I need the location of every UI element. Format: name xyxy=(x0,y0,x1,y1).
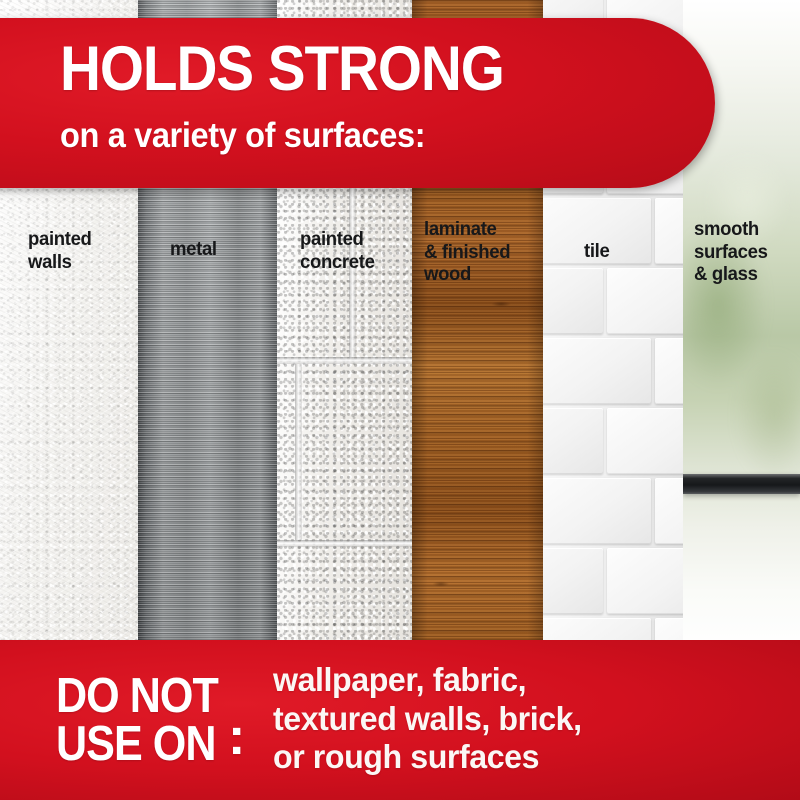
tile-piece xyxy=(607,268,683,334)
tile-piece xyxy=(543,268,603,334)
page-title: HOLDS STRONG xyxy=(60,38,504,101)
surface-label-glass: smooth surfaces & glass xyxy=(694,218,768,286)
tile-piece xyxy=(543,338,651,404)
tile-piece xyxy=(543,548,603,614)
do-not-use-heading: DO NOT USE ON xyxy=(56,672,218,769)
do-not-use-surface-list: wallpaper, fabric, textured walls, brick… xyxy=(273,662,582,779)
tile-piece xyxy=(607,548,683,614)
do-not-use-banner: DO NOT USE ON : wallpaper, fabric, textu… xyxy=(0,640,800,800)
mortar-joint-horizontal xyxy=(277,540,412,547)
tile-piece xyxy=(543,408,603,474)
page-subtitle: on a variety of surfaces: xyxy=(60,118,519,153)
tile-piece xyxy=(655,478,683,544)
tile-piece xyxy=(543,478,651,544)
mortar-joint-horizontal xyxy=(277,357,412,364)
surface-label-metal: metal xyxy=(170,238,217,261)
holds-strong-banner-text: HOLDS STRONG on a variety of surfaces: xyxy=(60,38,553,153)
surface-label-tile: tile xyxy=(584,240,609,263)
tile-piece xyxy=(607,408,683,474)
surface-label-wood: laminate & finished wood xyxy=(424,218,510,286)
do-not-use-heading-block: DO NOT USE ON : xyxy=(0,672,245,769)
surface-label-painted-concrete: painted concrete xyxy=(300,228,375,273)
window-mullion xyxy=(683,474,800,494)
tile-piece xyxy=(655,338,683,404)
surface-compatibility-infographic: HOLDS STRONG on a variety of surfaces: p… xyxy=(0,0,800,800)
tile-piece xyxy=(655,198,683,264)
holds-strong-banner: HOLDS STRONG on a variety of surfaces: xyxy=(0,18,715,188)
mortar-joint-vertical xyxy=(295,364,302,540)
surface-label-painted-walls: painted walls xyxy=(28,228,92,273)
do-not-use-colon: : xyxy=(228,713,245,768)
